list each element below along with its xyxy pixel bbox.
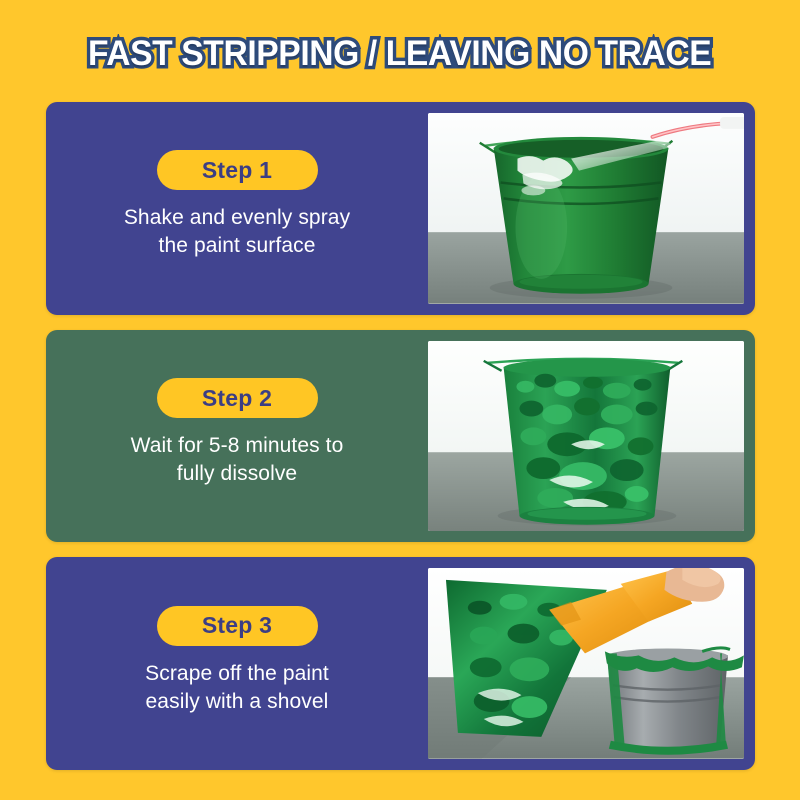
step-1-badge: Step 1 xyxy=(157,150,318,190)
step-2-badge: Step 2 xyxy=(157,378,318,418)
steps-list: Step 1 Shake and evenly spray the paint … xyxy=(46,102,755,770)
step-3-photo xyxy=(428,568,744,759)
step-1-description-line-1: Shake and evenly spray xyxy=(124,206,350,229)
bucket-dissolved-photo-icon xyxy=(428,341,744,532)
step-card-3: Step 3 Scrape off the paint easily with … xyxy=(46,557,755,770)
step-3-description: Scrape off the paint easily with a shove… xyxy=(145,660,329,716)
step-2-text-column: Step 2 Wait for 5-8 minutes to fully dis… xyxy=(46,330,428,543)
step-card-1: Step 1 Shake and evenly spray the paint … xyxy=(46,102,755,315)
step-3-description-line-2: easily with a shovel xyxy=(146,690,329,713)
page-title: FAST STRIPPING / LEAVING NO TRACE xyxy=(88,34,711,74)
header-banner: FAST STRIPPING / LEAVING NO TRACE xyxy=(0,0,800,102)
step-2-description: Wait for 5-8 minutes to fully dissolve xyxy=(131,432,344,488)
step-2-photo xyxy=(428,341,744,532)
step-1-photo xyxy=(428,113,744,304)
bucket-spray-photo-icon xyxy=(428,113,744,304)
step-1-text-column: Step 1 Shake and evenly spray the paint … xyxy=(46,102,428,315)
step-1-description-line-2: the paint surface xyxy=(159,234,316,257)
step-3-badge: Step 3 xyxy=(157,606,318,646)
step-2-description-line-1: Wait for 5-8 minutes to xyxy=(131,434,344,457)
step-2-description-line-2: fully dissolve xyxy=(177,462,297,485)
step-1-description: Shake and evenly spray the paint surface xyxy=(124,204,350,260)
bucket-scrape-photo-icon xyxy=(428,568,744,759)
step-card-2: Step 2 Wait for 5-8 minutes to fully dis… xyxy=(46,330,755,543)
step-3-text-column: Step 3 Scrape off the paint easily with … xyxy=(46,557,428,770)
step-3-description-line-1: Scrape off the paint xyxy=(145,662,329,685)
